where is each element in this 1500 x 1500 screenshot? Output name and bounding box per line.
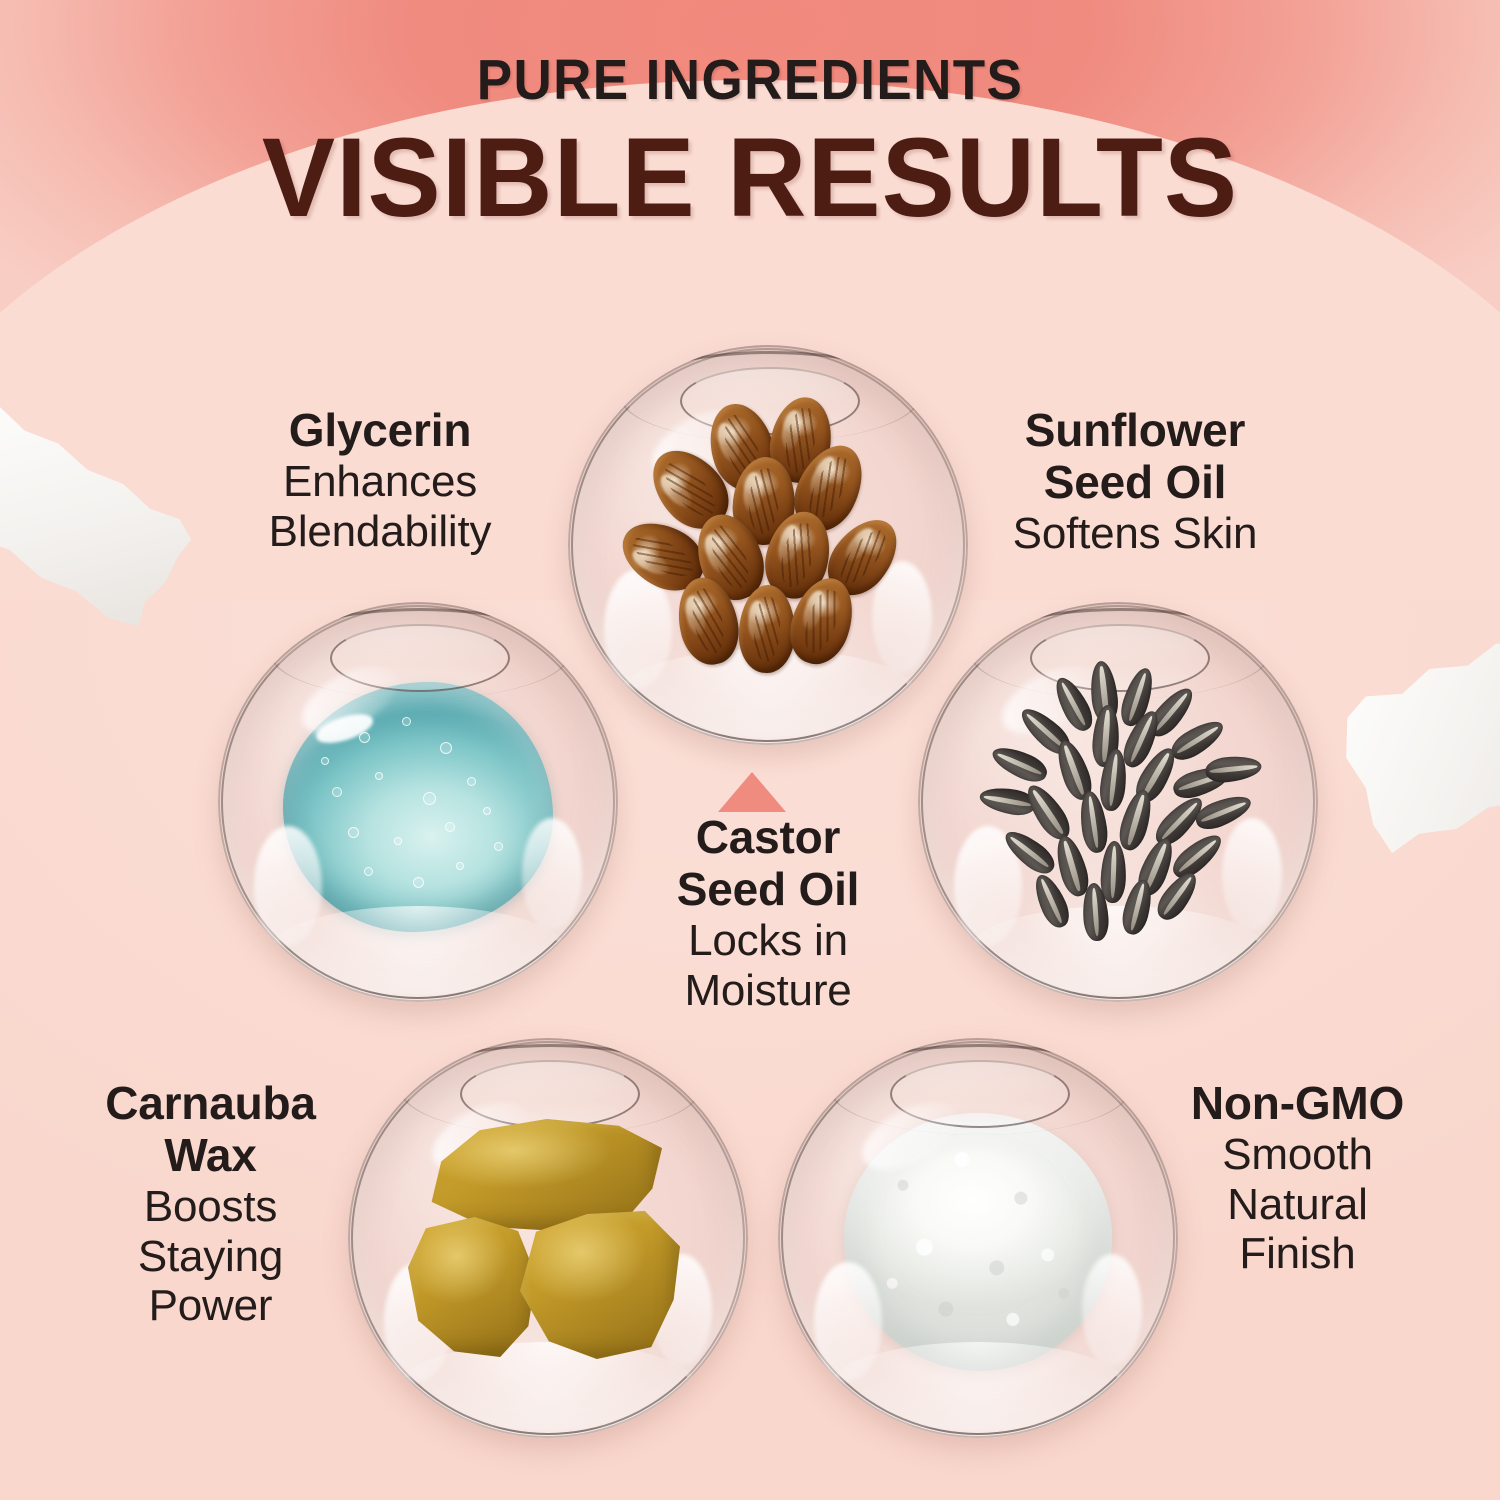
label-non-gmo-desc-line-2: Natural <box>1125 1180 1470 1230</box>
label-carnauba-desc-line-2: Staying <box>38 1232 383 1282</box>
sunflower-seed-pile <box>973 657 1263 947</box>
label-castor-name-line-1: Castor <box>592 812 944 864</box>
label-sunflower-desc-line-1: Softens Skin <box>940 509 1330 559</box>
orb-sunflower-seed-oil <box>918 602 1318 1002</box>
label-castor-name-line-2: Seed Oil <box>592 864 944 916</box>
label-carnauba-wax: Carnauba Wax Boosts Staying Power <box>38 1078 383 1331</box>
label-castor-seed-oil: Castor Seed Oil Locks in Moisture <box>592 812 944 1015</box>
header-subtitle: PURE INGREDIENTS <box>53 52 1448 109</box>
label-non-gmo: Non-GMO Smooth Natural Finish <box>1125 1078 1470 1279</box>
label-carnauba-desc-line-3: Power <box>38 1281 383 1331</box>
header-title: VISIBLE RESULTS <box>15 121 1485 235</box>
label-castor-desc-line-1: Locks in <box>592 916 944 966</box>
header: PURE INGREDIENTS VISIBLE RESULTS <box>0 52 1500 235</box>
label-glycerin-desc-line-1: Enhances <box>180 457 580 507</box>
triangle-up-icon <box>718 772 786 812</box>
orb-castor-seed-oil <box>568 345 968 745</box>
orb-carnauba-wax <box>348 1038 748 1438</box>
glycerin-gel-blob <box>283 682 553 932</box>
label-non-gmo-desc-line-1: Smooth <box>1125 1130 1470 1180</box>
label-carnauba-name-line-2: Wax <box>38 1130 383 1182</box>
label-glycerin: Glycerin Enhances Blendability <box>180 405 580 556</box>
label-sunflower-seed-oil: Sunflower Seed Oil Softens Skin <box>940 405 1330 559</box>
label-sunflower-name-line-1: Sunflower <box>940 405 1330 457</box>
wax-chunk-group <box>408 1113 688 1363</box>
label-carnauba-name-line-1: Carnauba <box>38 1078 383 1130</box>
ingredients-infographic: PURE INGREDIENTS VISIBLE RESULTS <box>0 0 1500 1500</box>
label-glycerin-name: Glycerin <box>180 405 580 457</box>
label-glycerin-desc-line-2: Blendability <box>180 507 580 557</box>
powder-texture <box>844 1113 1112 1371</box>
label-non-gmo-name: Non-GMO <box>1125 1078 1470 1130</box>
label-non-gmo-desc-line-3: Finish <box>1125 1229 1470 1279</box>
white-powder-mound <box>844 1113 1112 1371</box>
castor-bean-cluster <box>603 395 933 695</box>
label-carnauba-desc-line-1: Boosts <box>38 1182 383 1232</box>
label-castor-desc-line-2: Moisture <box>592 966 944 1016</box>
label-sunflower-name-line-2: Seed Oil <box>940 457 1330 509</box>
orb-non-gmo <box>778 1038 1178 1438</box>
orb-glycerin <box>218 602 618 1002</box>
